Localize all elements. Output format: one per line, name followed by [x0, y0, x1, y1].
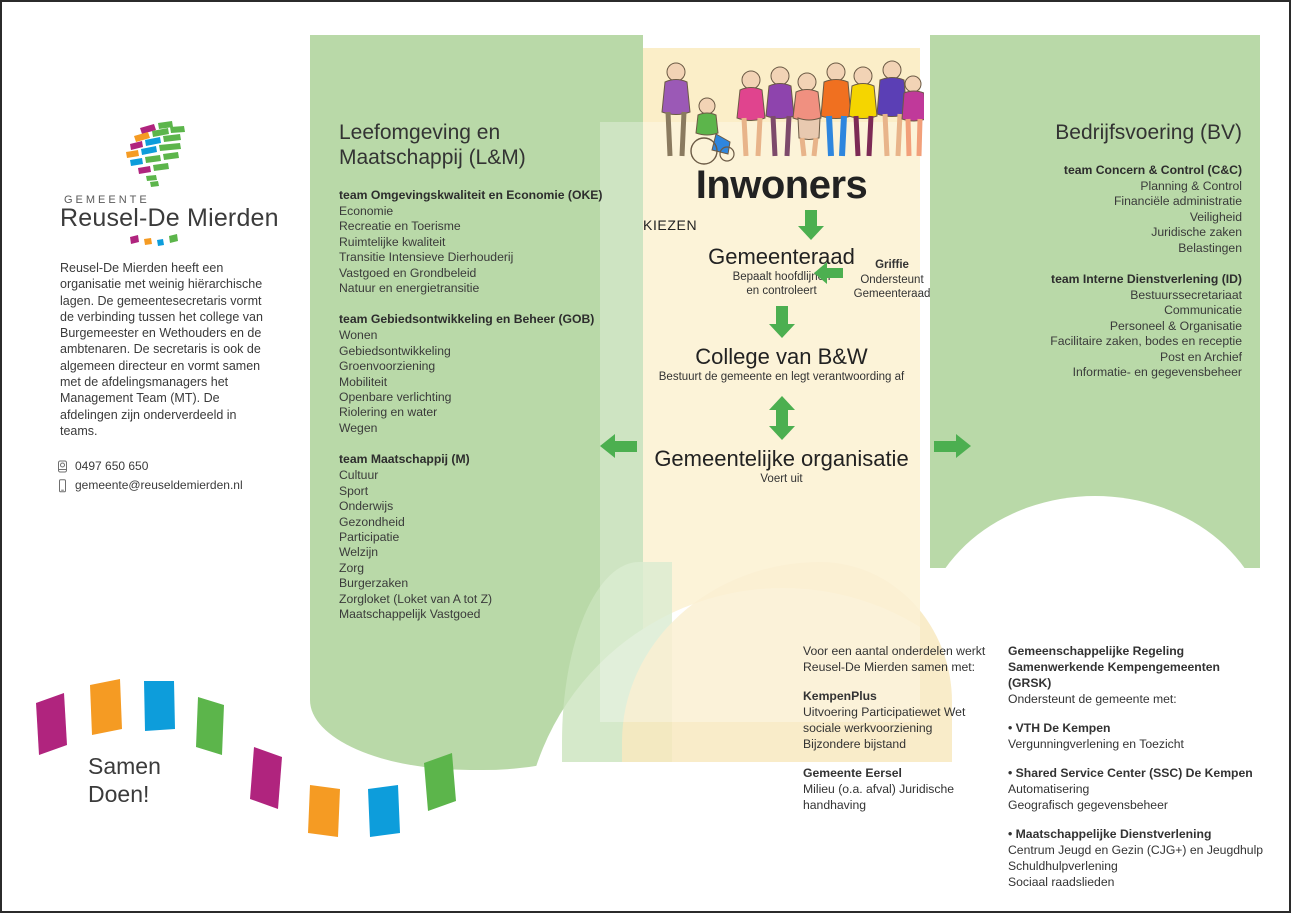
slogan-line-1: Samen [88, 752, 161, 780]
flow-node-college: College van B&W [643, 344, 920, 370]
right-column-title: Bedrijfsvoering (BV) [987, 120, 1242, 145]
partner-detail-line: Bijzondere bijstand [803, 736, 993, 752]
college-sub: Bestuurt de gemeente en legt verantwoord… [643, 370, 920, 384]
email-address: gemeente@reuseldemierden.nl [75, 476, 243, 495]
partner-spacer [1008, 707, 1266, 720]
team-heading: team Gebiedsontwikkeling en Beheer (GOB) [339, 312, 624, 326]
right-department-column: Bedrijfsvoering (BV) team Concern & Cont… [987, 120, 1242, 396]
griffie-sub-1: Ondersteunt [860, 274, 923, 286]
phone-icon [57, 460, 68, 474]
partner-detail-line: Schuldhulpverlening [1008, 858, 1266, 874]
team-task-list: EconomieRecreatie en ToerismeRuimtelijke… [339, 204, 624, 296]
left-column-title: Leefomgeving en Maatschappij (L&M) [339, 120, 624, 170]
logo-leaf-icon [110, 120, 200, 190]
partner-detail-line: sociale werkvoorziening [803, 720, 993, 736]
residents-illustration [652, 54, 924, 166]
team-task-item: Zorg [339, 561, 624, 576]
partners-middle-block: Voor een aantal onderdelen werkt Reusel-… [803, 643, 993, 813]
team-heading: team Interne Dienstverlening (ID) [987, 272, 1242, 286]
partners-mid-list: KempenPlusUitvoering Participatiewet Wet… [803, 675, 993, 813]
team-task-item: Facilitaire zaken, bodes en receptie [987, 334, 1242, 349]
team-task-list: Planning & ControlFinanciële administrat… [987, 179, 1242, 256]
partner-detail-line: Centrum Jeugd en Gezin (CJG+) en Jeugdhu… [1008, 842, 1266, 858]
team-task-item: Veiligheid [987, 210, 1242, 225]
partner-spacer [803, 675, 993, 688]
team-task-list: CultuurSportOnderwijsGezondheidParticipa… [339, 468, 624, 622]
partner-detail-line: Vergunningverlening en Toezicht [1008, 736, 1266, 752]
slogan-line-2: Doen! [88, 780, 161, 808]
partner-spacer [803, 752, 993, 765]
team-task-item: Vastgoed en Grondbeleid [339, 266, 624, 281]
logo-leaf-svg [110, 120, 200, 190]
partner-spacer [1008, 813, 1266, 826]
team-task-list: BestuurssecretariaatCommunicatiePersonee… [987, 288, 1242, 380]
team-task-item: Mobiliteit [339, 375, 624, 390]
team-task-item: Participatie [339, 530, 624, 545]
team-task-item: Groenvoorziening [339, 359, 624, 374]
kiezen-row: KIEZEN [643, 210, 920, 240]
team-task-item: Wegen [339, 421, 624, 436]
team-task-item: Cultuur [339, 468, 624, 483]
team-task-item: Recreatie en Toerisme [339, 219, 624, 234]
grsk-title-line1: Gemeenschappelijke Regeling [1008, 643, 1266, 659]
team-heading: team Maatschappij (M) [339, 452, 624, 466]
logo-accent-dots [128, 233, 290, 249]
contact-email-row: gemeente@reuseldemierden.nl [57, 476, 287, 495]
partner-detail-line: Automatisering [1008, 781, 1266, 797]
infographic-page: GEMEENTE Reusel-De Mierden Reusel-De Mie… [0, 0, 1291, 913]
partners-intro-line1: Voor een aantal onderdelen werkt [803, 643, 993, 659]
flow-node-inwoners: Inwoners [643, 162, 920, 208]
arrow-griffie-to-raad [814, 262, 843, 284]
griffie-text: Griffie Ondersteunt Gemeenteraad [849, 258, 935, 302]
grsk-block: Gemeenschappelijke Regeling Samenwerkend… [1008, 643, 1266, 890]
logo-municipality-name: Reusel-De Mierden [60, 204, 290, 233]
team-task-item: Burgerzaken [339, 576, 624, 591]
team-task-item: Financiële administratie [987, 194, 1242, 209]
arrow-organisatie-to-left-column [600, 434, 637, 458]
partner-name: • Shared Service Center (SSC) De Kempen [1008, 765, 1266, 781]
team-task-item: Maatschappelijk Vastgoed [339, 607, 624, 622]
municipality-logo: GEMEENTE Reusel-De Mierden [60, 120, 290, 249]
team-task-item: Personeel & Organisatie [987, 319, 1242, 334]
phone-number: 0497 650 650 [75, 457, 148, 476]
team-task-item: Zorgloket (Loket van A tot Z) [339, 592, 624, 607]
team-task-item: Economie [339, 204, 624, 219]
grsk-list: • VTH De KempenVergunningverlening en To… [1008, 707, 1266, 890]
organisatie-sub: Voert uit [643, 472, 920, 486]
partner-detail-line: Sociaal raadslieden [1008, 874, 1266, 890]
partner-detail-line: Geografisch gegevensbeheer [1008, 797, 1266, 813]
flow-node-organisatie: Gemeentelijke organisatie [643, 446, 920, 472]
partner-detail-line: Milieu (o.a. afval) Juridische [803, 781, 993, 797]
kiezen-label: KIEZEN [643, 217, 697, 233]
griffie-block: Griffie Ondersteunt Gemeenteraad [814, 258, 944, 302]
mobile-icon [57, 479, 68, 493]
team-heading: team Omgevingskwaliteit en Economie (OKE… [339, 188, 624, 202]
governance-flow: Inwoners KIEZEN Gemeenteraad Bepaalt hoo… [643, 162, 920, 486]
team-task-item: Natuur en energietransitie [339, 281, 624, 296]
right-panel-arc-mask [920, 496, 1270, 646]
team-task-item: Openbare verlichting [339, 390, 624, 405]
arrow-organisatie-to-right-column [934, 434, 971, 458]
intro-paragraph: Reusel-De Mierden heeft een organisatie … [60, 260, 265, 439]
team-task-item: Ruimtelijke kwaliteit [339, 235, 624, 250]
team-task-item: Belastingen [987, 241, 1242, 256]
team-heading: team Concern & Control (C&C) [987, 163, 1242, 177]
left-team-list-container: team Omgevingskwaliteit en Economie (OKE… [339, 188, 624, 622]
team-task-item: Sport [339, 484, 624, 499]
team-task-item: Transitie Intensieve Dierhouderij [339, 250, 624, 265]
team-task-item: Communicatie [987, 303, 1242, 318]
team-task-item: Juridische zaken [987, 225, 1242, 240]
contact-block: 0497 650 650 gemeente@reuseldemierden.nl [57, 457, 287, 495]
left-department-column: Leefomgeving en Maatschappij (L&M) team … [339, 120, 624, 638]
arrow-college-organisatie-bidirectional [769, 396, 795, 440]
partner-name: • Maatschappelijke Dienstverlening [1008, 826, 1266, 842]
team-task-item: Gebiedsontwikkeling [339, 344, 624, 359]
partner-detail-line: Uitvoering Participatiewet Wet [803, 704, 993, 720]
team-task-item: Bestuurssecretariaat [987, 288, 1242, 303]
partner-name: • VTH De Kempen [1008, 720, 1266, 736]
team-task-item: Post en Archief [987, 350, 1242, 365]
slogan-block: Samen Doen! [88, 752, 161, 808]
partner-name: Gemeente Eersel [803, 765, 993, 781]
partner-spacer [1008, 752, 1266, 765]
team-task-item: Planning & Control [987, 179, 1242, 194]
team-task-list: WonenGebiedsontwikkelingGroenvoorziening… [339, 328, 624, 436]
griffie-sub-2: Gemeenteraad [854, 288, 931, 300]
griffie-title: Griffie [875, 259, 909, 271]
grsk-subtitle: Ondersteunt de gemeente met: [1008, 691, 1266, 707]
team-task-item: Informatie- en gegevensbeheer [987, 365, 1242, 380]
partner-name: KempenPlus [803, 688, 993, 704]
team-task-item: Welzijn [339, 545, 624, 560]
arrow-raad-to-college [769, 306, 795, 338]
team-task-item: Riolering en water [339, 405, 624, 420]
team-task-item: Gezondheid [339, 515, 624, 530]
team-task-item: Wonen [339, 328, 624, 343]
right-team-list-container: team Concern & Control (C&C)Planning & C… [987, 163, 1242, 380]
partners-intro-line2: Reusel-De Mierden samen met: [803, 659, 993, 675]
arrow-inwoners-to-raad [798, 210, 824, 240]
contact-phone-row: 0497 650 650 [57, 457, 287, 476]
partner-detail-line: handhaving [803, 797, 993, 813]
team-task-item: Onderwijs [339, 499, 624, 514]
grsk-title-line2: Samenwerkende Kempengemeenten (GRSK) [1008, 659, 1266, 691]
